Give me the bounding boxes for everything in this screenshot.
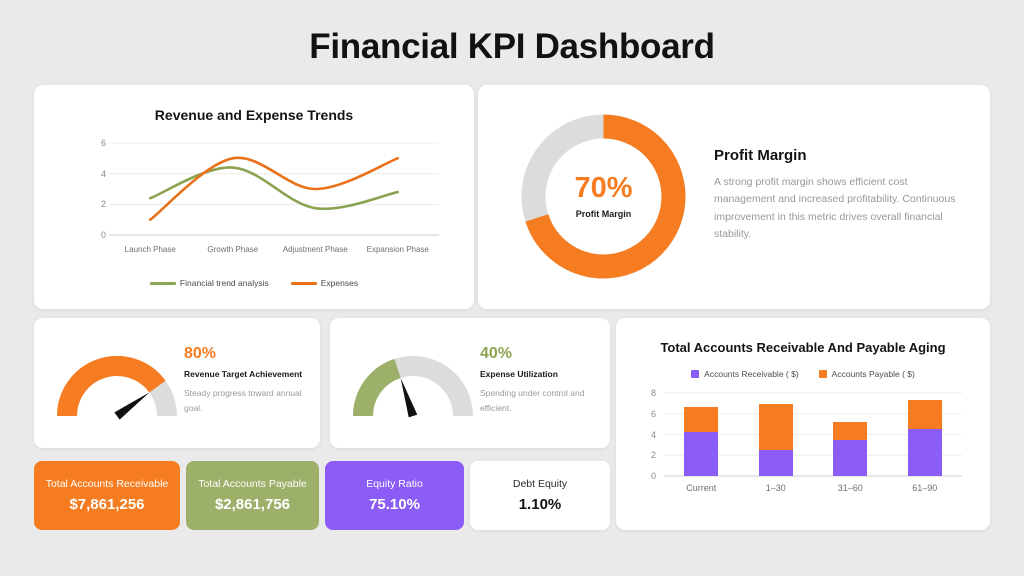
legend-label: Accounts Receivable ( $) [704, 369, 799, 379]
legend-label: Financial trend analysis [180, 278, 269, 288]
bar-chart-legend: Accounts Receivable ( $)Accounts Payable… [616, 369, 990, 379]
legend-label: Accounts Payable ( $) [832, 369, 915, 379]
bar-column[interactable] [908, 400, 942, 476]
legend-swatch-icon [691, 370, 699, 378]
revenue-target-gauge-card: 80% Revenue Target Achievement Steady pr… [34, 318, 320, 448]
kpi-tile-total-accounts-receivable[interactable]: Total Accounts Receivable $7,861,256 [34, 461, 180, 530]
gauge-needle [114, 392, 149, 419]
expense-utilization-label: Expense Utilization [480, 369, 608, 379]
kpi-label: Total Accounts Payable [198, 478, 307, 490]
kpi-label: Total Accounts Receivable [46, 478, 169, 490]
legend-line-icon [291, 282, 317, 285]
legend-item[interactable]: Financial trend analysis [150, 278, 269, 288]
kpi-value: 75.10% [369, 496, 420, 513]
line-series-expenses [150, 158, 398, 220]
revenue-target-percent: 80% [184, 346, 312, 362]
dashboard-page: Financial KPI Dashboard Revenue and Expe… [0, 0, 1024, 576]
expense-utilization-percent: 40% [480, 346, 608, 362]
bar-segment [833, 440, 867, 476]
legend-item[interactable]: Accounts Payable ( $) [819, 369, 915, 379]
legend-item[interactable]: Accounts Receivable ( $) [691, 369, 799, 379]
line-chart-x-tick: Launch Phase [125, 245, 176, 254]
line-chart-y-tick: 6 [92, 138, 106, 148]
profit-margin-text: Profit Margin A strong profit margin sho… [714, 147, 966, 243]
bar-segment [908, 429, 942, 476]
bar-segment [833, 422, 867, 440]
bar-segment [908, 400, 942, 429]
kpi-tile-debt-equity[interactable]: Debt Equity 1.10% [470, 461, 610, 530]
bar-chart-title: Total Accounts Receivable And Payable Ag… [616, 340, 990, 355]
revenue-target-description: Steady progress toward annual goal. [184, 386, 312, 416]
bar-chart-y-tick: 4 [644, 430, 656, 440]
expense-utilization-description: Spending under control and efficient. [480, 386, 608, 416]
line-chart-y-tick: 4 [92, 169, 106, 179]
gauge-svg [52, 344, 182, 426]
kpi-label: Debt Equity [513, 478, 567, 490]
line-chart: 0246Launch PhaseGrowth PhaseAdjustment P… [34, 135, 474, 265]
gauge-needle [401, 378, 418, 417]
bar-chart-x-tick: 61–90 [912, 483, 937, 493]
expense-utilization-text: 40% Expense Utilization Spending under c… [480, 346, 608, 416]
revenue-target-gauge [52, 344, 182, 426]
bar-chart-x-tick: 1–30 [766, 483, 786, 493]
profit-margin-donut: 70% Profit Margin [516, 109, 691, 284]
kpi-value: 1.10% [519, 496, 562, 513]
bar-chart: 02468Current1–3031–6061–90 [616, 387, 990, 505]
revenue-target-label: Revenue Target Achievement [184, 369, 312, 379]
kpi-value: $2,861,756 [215, 496, 290, 513]
kpi-label: Equity Ratio [366, 478, 423, 490]
bar-chart-y-tick: 6 [644, 409, 656, 419]
line-chart-legend: Financial trend analysisExpenses [34, 278, 474, 288]
bar-column[interactable] [684, 407, 718, 476]
bar-chart-x-tick: Current [686, 483, 716, 493]
gauge-value-arc [67, 366, 157, 416]
expense-utilization-gauge-card: 40% Expense Utilization Spending under c… [330, 318, 610, 448]
page-title: Financial KPI Dashboard [0, 27, 1024, 67]
legend-swatch-icon [819, 370, 827, 378]
bar-column[interactable] [759, 404, 793, 476]
bar-segment [759, 450, 793, 476]
bar-segment [684, 407, 718, 432]
gauge-svg [348, 344, 478, 426]
line-chart-title: Revenue and Expense Trends [34, 107, 474, 123]
line-chart-x-tick: Growth Phase [207, 245, 258, 254]
bar-chart-y-tick: 2 [644, 450, 656, 460]
profit-margin-description: A strong profit margin shows efficient c… [714, 174, 966, 243]
donut-center-labels: 70% Profit Margin [516, 109, 691, 284]
kpi-value: $7,861,256 [69, 496, 144, 513]
bar-segment [684, 432, 718, 476]
profit-margin-heading: Profit Margin [714, 147, 966, 164]
kpi-tile-total-accounts-payable[interactable]: Total Accounts Payable $2,861,756 [186, 461, 319, 530]
revenue-target-text: 80% Revenue Target Achievement Steady pr… [184, 346, 312, 416]
line-chart-x-tick: Adjustment Phase [283, 245, 348, 254]
legend-item[interactable]: Expenses [291, 278, 358, 288]
legend-line-icon [150, 282, 176, 285]
bar-chart-y-tick: 0 [644, 471, 656, 481]
gauge-value-arc [363, 368, 398, 416]
bar-chart-y-tick: 8 [644, 388, 656, 398]
line-chart-x-tick: Expansion Phase [367, 245, 429, 254]
expense-utilization-gauge [348, 344, 478, 426]
profit-margin-card: 70% Profit Margin Profit Margin A strong… [478, 85, 990, 309]
revenue-expense-trends-card: Revenue and Expense Trends 0246Launch Ph… [34, 85, 474, 309]
line-chart-y-tick: 0 [92, 230, 106, 240]
bar-chart-x-tick: 31–60 [838, 483, 863, 493]
line-chart-y-tick: 2 [92, 199, 106, 209]
kpi-tile-equity-ratio[interactable]: Equity Ratio 75.10% [325, 461, 464, 530]
donut-caption: Profit Margin [576, 209, 632, 219]
bar-column[interactable] [833, 422, 867, 476]
bar-segment [759, 404, 793, 450]
legend-label: Expenses [321, 278, 358, 288]
donut-percent: 70% [574, 174, 632, 203]
accounts-aging-card: Total Accounts Receivable And Payable Ag… [616, 318, 990, 530]
